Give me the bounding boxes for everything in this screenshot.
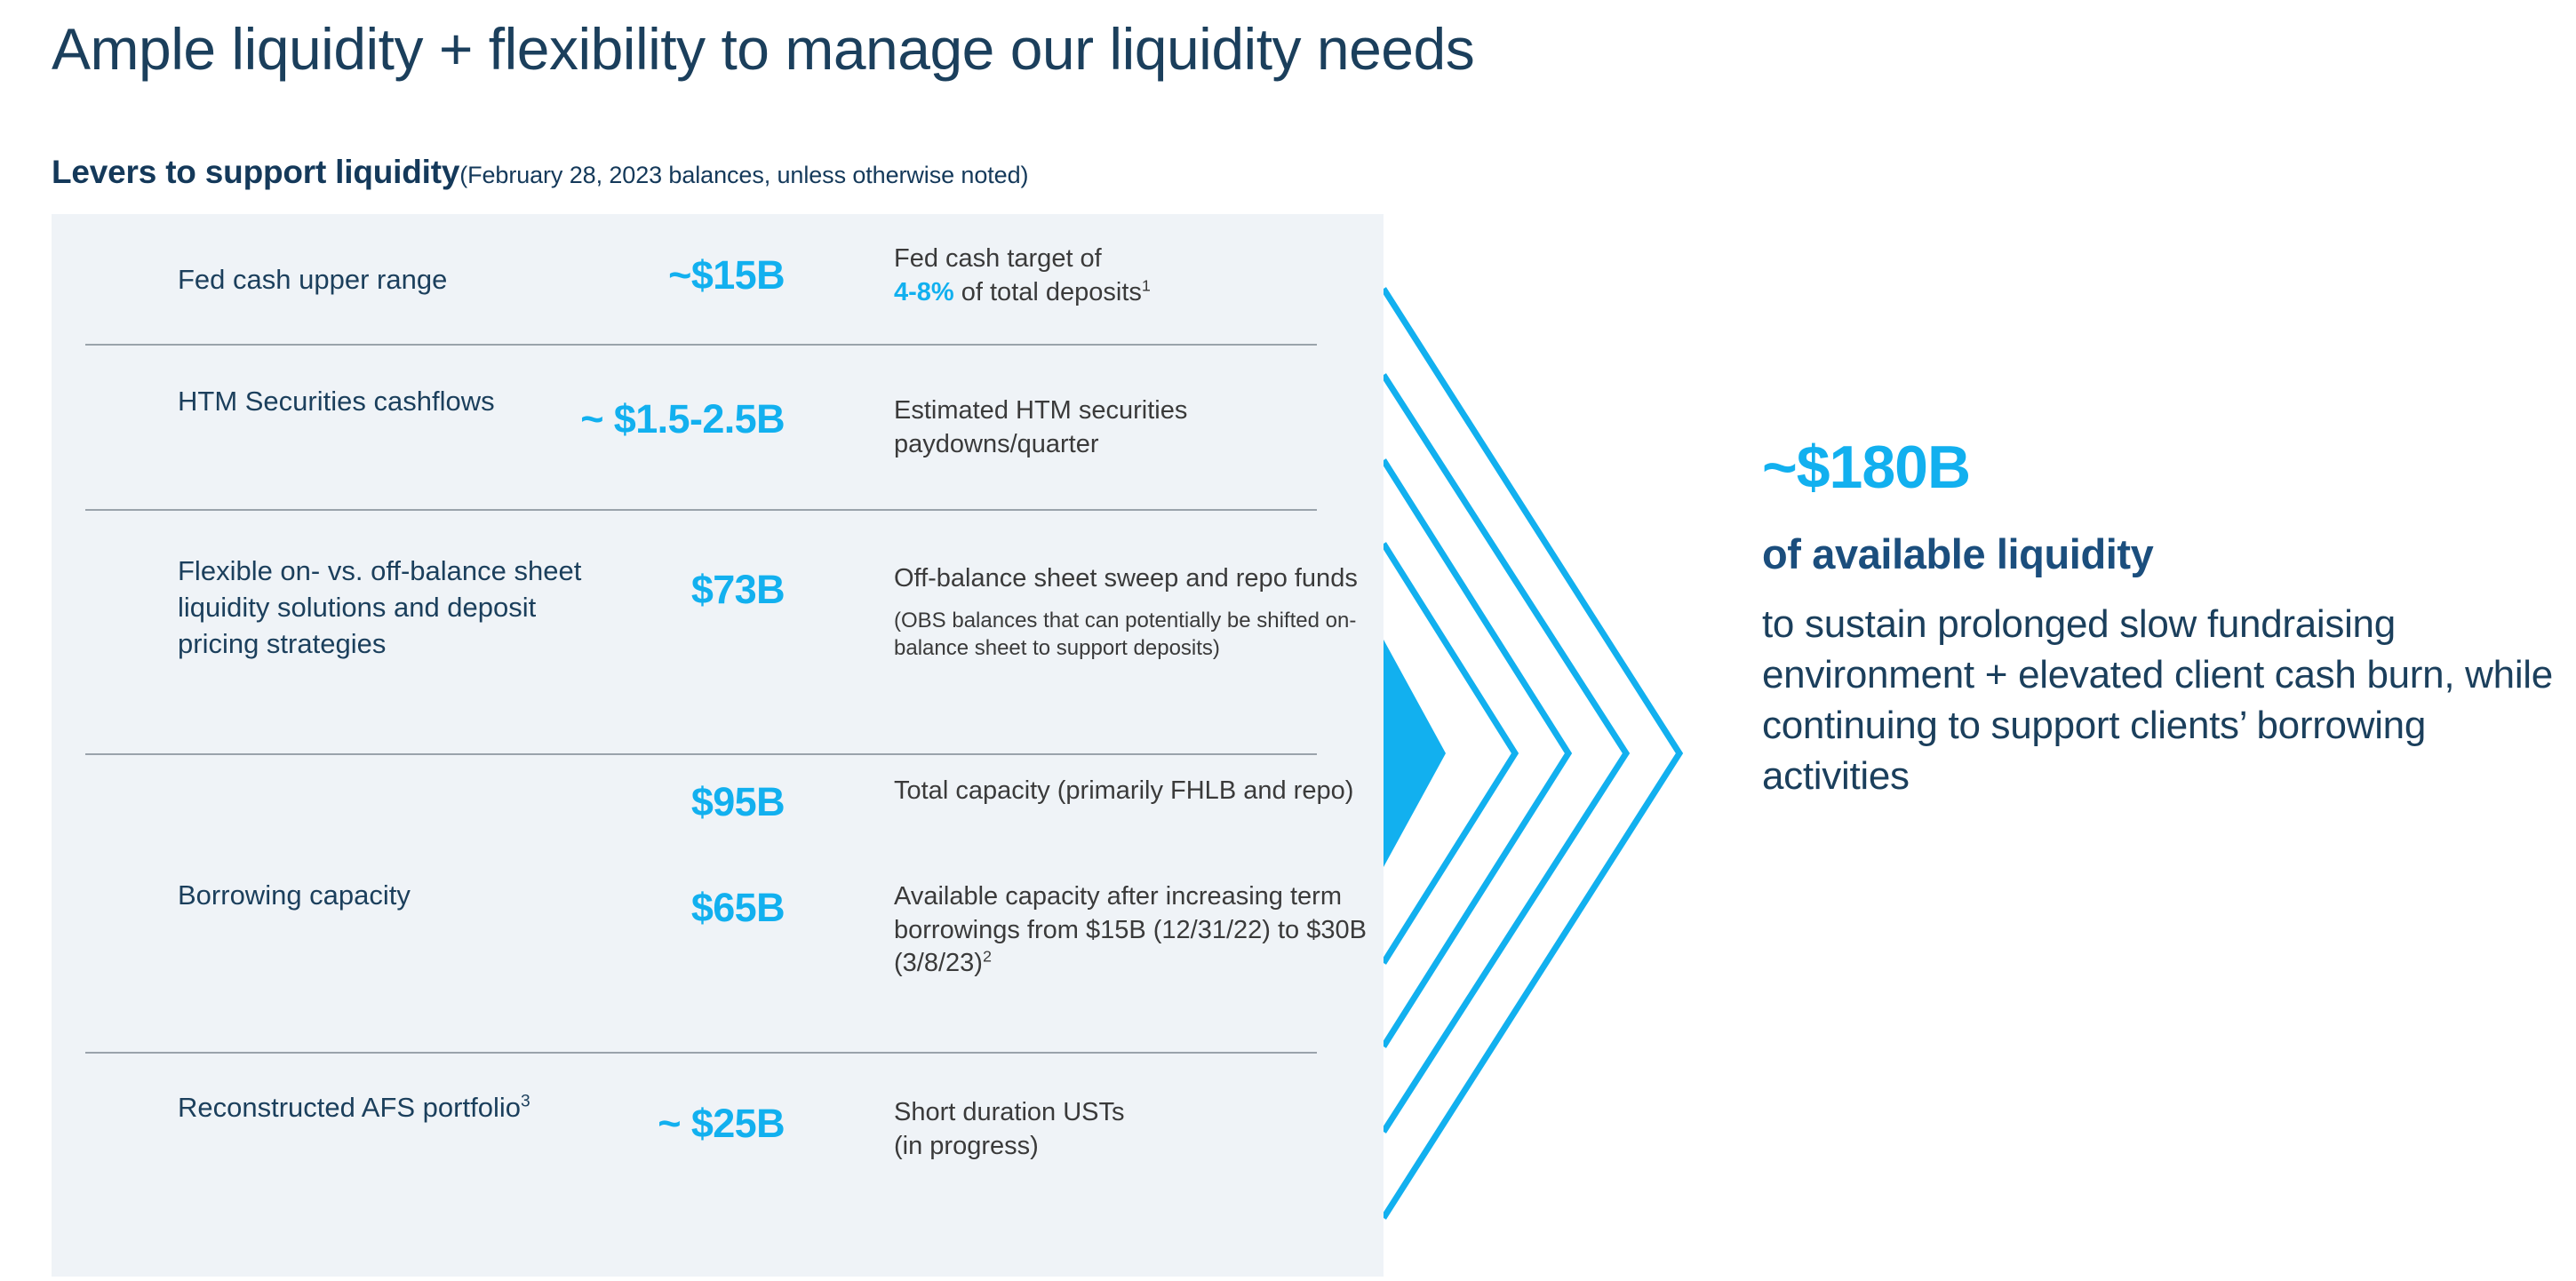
row-label: Borrowing capacity (178, 877, 551, 913)
chevron-arrows-icon (1384, 249, 1739, 1277)
row-label: Fed cash upper range (178, 261, 551, 298)
row-description: Off-balance sheet sweep and repo funds (… (894, 562, 1392, 663)
row-amount-primary: $95B (549, 779, 785, 825)
row-desc-a: Total capacity (primarily FHLB and repo) (894, 775, 1392, 808)
row-desc-highlight: 4-8% (894, 278, 954, 306)
row-description: Short duration USTs (in progress) (894, 1096, 1392, 1163)
row-desc-line1: Estimated HTM securities paydowns/quarte… (894, 394, 1392, 461)
row-description: Estimated HTM securities paydowns/quarte… (894, 394, 1392, 461)
row-desc-line1: Off-balance sheet sweep and repo funds (894, 562, 1392, 596)
summary-amount: ~$180B (1762, 437, 2562, 497)
row-desc-line1: Fed cash target of (894, 244, 1102, 273)
subheading-note: (February 28, 2023 balances, unless othe… (459, 162, 1028, 188)
slide-root: Ample liquidity + flexibility to manage … (0, 0, 2576, 1277)
row-amount: ~$15B (549, 252, 785, 298)
row-amount: $73B (549, 567, 785, 613)
row-description: Fed cash target of 4-8% of total deposit… (894, 243, 1392, 309)
row-amount-secondary: $65B (549, 885, 785, 931)
row-description-primary: Total capacity (primarily FHLB and repo) (894, 775, 1392, 808)
row-description-secondary: Available capacity after increasing term… (894, 880, 1392, 981)
row-label-text: Reconstructed AFS portfolio (178, 1092, 521, 1123)
summary-lead: of available liquidity (1762, 531, 2562, 577)
page-title: Ample liquidity + flexibility to manage … (52, 18, 1474, 81)
row-desc-line1: Short duration USTs (894, 1098, 1125, 1126)
table-row: Borrowing capacity $95B Total capacity (… (52, 755, 1384, 1054)
row-amount: ~ $25B (522, 1101, 785, 1147)
row-desc-b: Available capacity after increasing term… (894, 882, 1367, 977)
row-amount: ~ $1.5-2.5B (469, 396, 785, 442)
levers-table: Fed cash upper range ~$15B Fed cash targ… (52, 214, 1384, 1277)
subheading: Levers to support liquidity(February 28,… (52, 154, 1028, 191)
row-desc-sub: (OBS balances that can potentially be sh… (894, 607, 1392, 663)
row-label: Reconstructed AFS portfolio3 (178, 1089, 551, 1126)
row-desc-line2: (in progress) (894, 1132, 1039, 1160)
row-desc-line2: of total deposits (954, 278, 1142, 306)
summary-body: to sustain prolonged slow fundraising en… (1762, 599, 2562, 802)
table-row: Reconstructed AFS portfolio3 ~ $25B Shor… (52, 1054, 1384, 1196)
row-desc-b-footnote: 2 (983, 948, 992, 966)
table-row: Fed cash upper range ~$15B Fed cash targ… (52, 214, 1384, 346)
table-row: Flexible on- vs. off-balance sheet liqui… (52, 511, 1384, 755)
subheading-strong: Levers to support liquidity (52, 154, 459, 190)
table-row: HTM Securities cashflows ~ $1.5-2.5B Est… (52, 346, 1384, 511)
summary-block: ~$180B of available liquidity to sustain… (1762, 437, 2562, 801)
row-desc-footnote: 1 (1142, 276, 1151, 294)
row-label: Flexible on- vs. off-balance sheet liqui… (178, 553, 586, 663)
levers-panel: Fed cash upper range ~$15B Fed cash targ… (52, 214, 1384, 1277)
